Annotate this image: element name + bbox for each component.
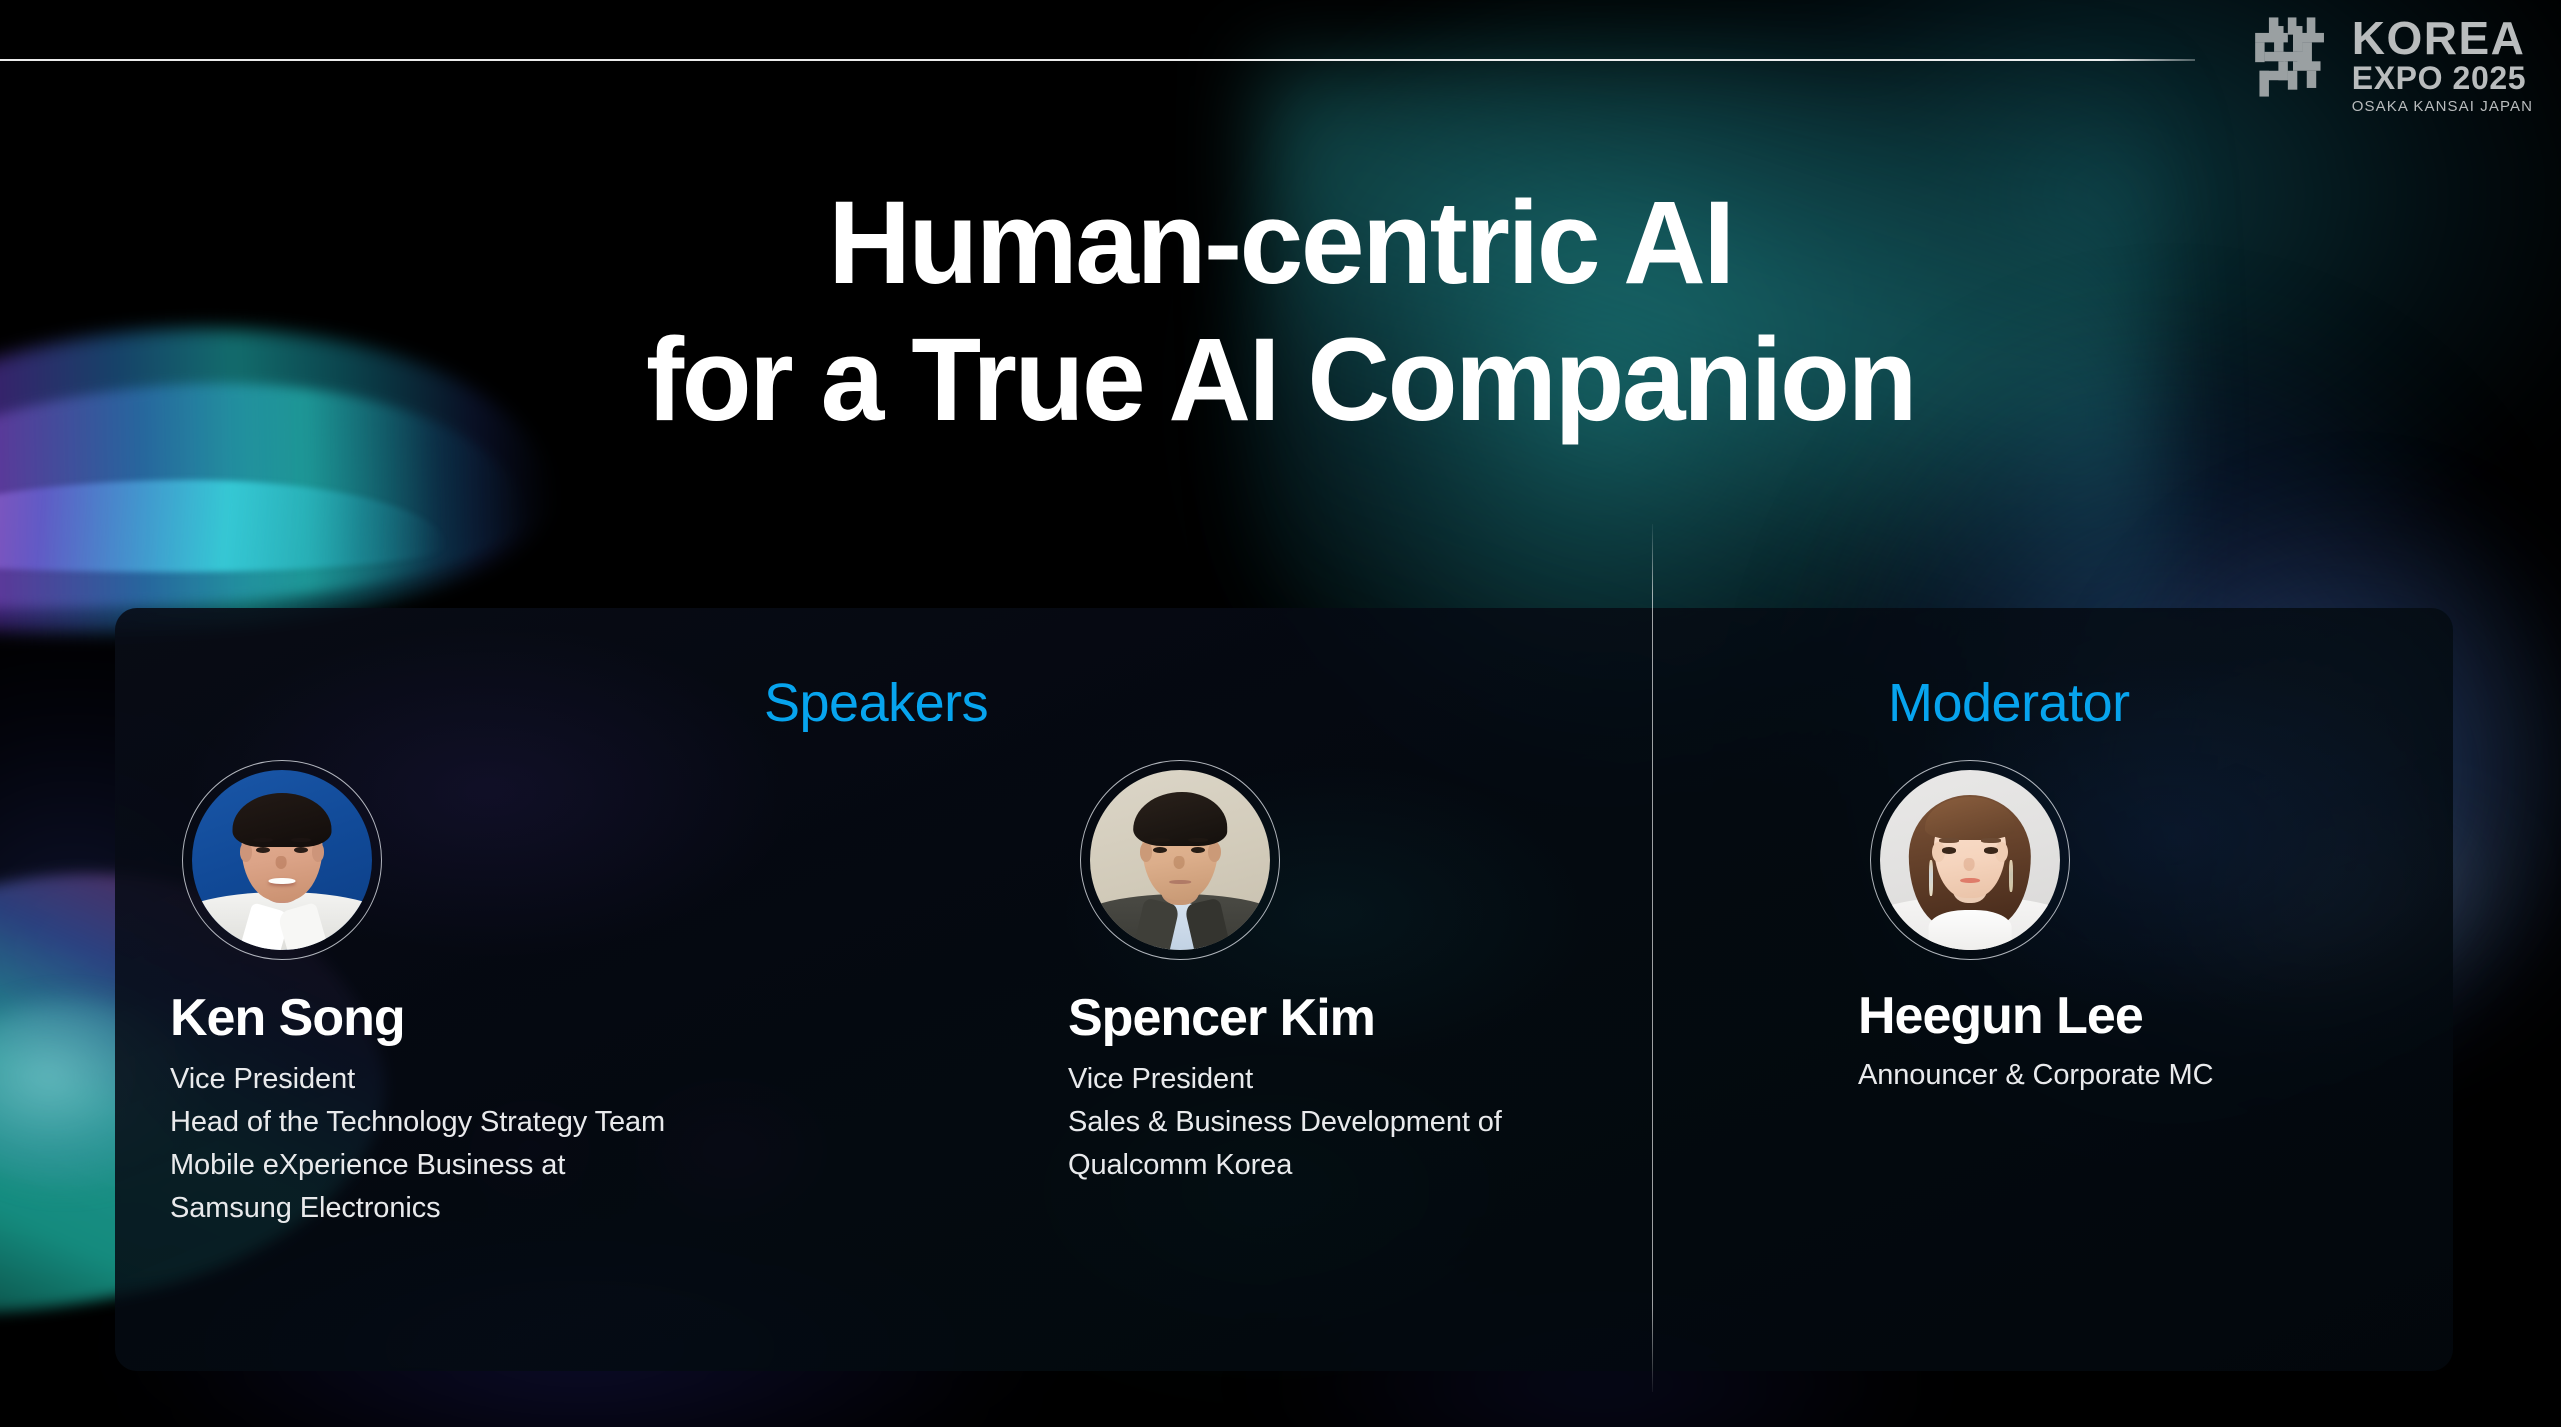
speaker-role: Vice President Head of the Technology St… — [170, 1058, 665, 1230]
section-label-moderator: Moderator — [1888, 672, 2130, 734]
portrait-eye-right — [1984, 847, 1998, 853]
header-rule — [0, 59, 2195, 61]
speaker-role: Vice President Sales & Business Developm… — [1068, 1058, 1502, 1187]
speaker-card-ken-song: Ken Song Vice President Head of the Tech… — [170, 760, 665, 1230]
portrait-brow-left — [253, 838, 273, 843]
moderator-card-heegun-lee: Heegun Lee Announcer & Corporate MC — [1858, 760, 2213, 1097]
logo-line-osaka: OSAKA KANSAI JAPAN — [2352, 99, 2533, 116]
portrait-eye-right — [294, 847, 308, 853]
portrait-earring-left — [1929, 860, 1934, 896]
portrait-brow-right — [291, 838, 311, 843]
logo-line-korea: KOREA — [2352, 16, 2533, 60]
iridescent-highlight — [0, 480, 446, 572]
avatar-ring-ken-song — [182, 760, 382, 960]
moderator-role-line: Announcer & Corporate MC — [1858, 1054, 2213, 1097]
speaker-name: Spencer Kim — [1068, 988, 1502, 1048]
logo-line-expo: EXPO 2025 — [2352, 62, 2533, 95]
portrait-brow-right — [1981, 838, 2001, 843]
portrait-ear-right — [1208, 842, 1221, 862]
portrait-nose — [1174, 856, 1185, 869]
portrait-brow-right — [1188, 838, 1208, 843]
speaker-role-line: Head of the Technology Strategy Team — [170, 1101, 665, 1144]
speaker-role-line: Vice President — [170, 1058, 665, 1101]
moderator-role: Announcer & Corporate MC — [1858, 1054, 2213, 1097]
slide-canvas: KOREA EXPO 2025 OSAKA KANSAI JAPAN Human… — [0, 0, 2561, 1427]
korea-expo-knot-icon — [2250, 14, 2336, 100]
title-line-1: Human-centric AI — [38, 175, 2522, 312]
speaker-role-line: Samsung Electronics — [170, 1187, 665, 1230]
portrait-eye-left — [256, 847, 270, 853]
speaker-role-line: Sales & Business Development of — [1068, 1101, 1502, 1144]
avatar-heegun-lee — [1880, 770, 2060, 950]
speaker-role-line: Qualcomm Korea — [1068, 1144, 1502, 1187]
avatar-ring-heegun-lee — [1870, 760, 2070, 960]
portrait-blouse — [1929, 910, 2012, 950]
title-line-2: for a True AI Companion — [38, 312, 2522, 449]
speaker-role-line: Mobile eXperience Business at — [170, 1144, 665, 1187]
logo-wordmark: KOREA EXPO 2025 OSAKA KANSAI JAPAN — [2352, 14, 2533, 116]
speaker-role-line: Vice President — [1068, 1058, 1502, 1101]
section-label-speakers: Speakers — [764, 672, 988, 734]
moderator-name: Heegun Lee — [1858, 986, 2213, 1046]
avatar-ken-song — [192, 770, 372, 950]
speaker-card-spencer-kim: Spencer Kim Vice President Sales & Busin… — [1068, 760, 1502, 1187]
portrait-eye-left — [1153, 847, 1167, 853]
portrait-nose — [276, 856, 287, 869]
portrait-ear-left — [1140, 842, 1153, 862]
portrait-mouth — [1169, 880, 1191, 884]
speakers-moderator-divider — [1652, 524, 1653, 1392]
avatar-spencer-kim — [1090, 770, 1270, 950]
portrait-nose — [1964, 858, 1975, 871]
korea-expo-logo: KOREA EXPO 2025 OSAKA KANSAI JAPAN — [2250, 14, 2533, 116]
portrait-brow-left — [1150, 838, 1170, 843]
portrait-eye-right — [1191, 847, 1205, 853]
portrait-earring-right — [2009, 860, 2014, 892]
speaker-name: Ken Song — [170, 988, 665, 1048]
slide-title: Human-centric AI for a True AI Companion — [38, 175, 2522, 449]
portrait-brow-left — [1939, 838, 1959, 843]
portrait-eye-left — [1942, 847, 1956, 853]
avatar-ring-spencer-kim — [1080, 760, 1280, 960]
